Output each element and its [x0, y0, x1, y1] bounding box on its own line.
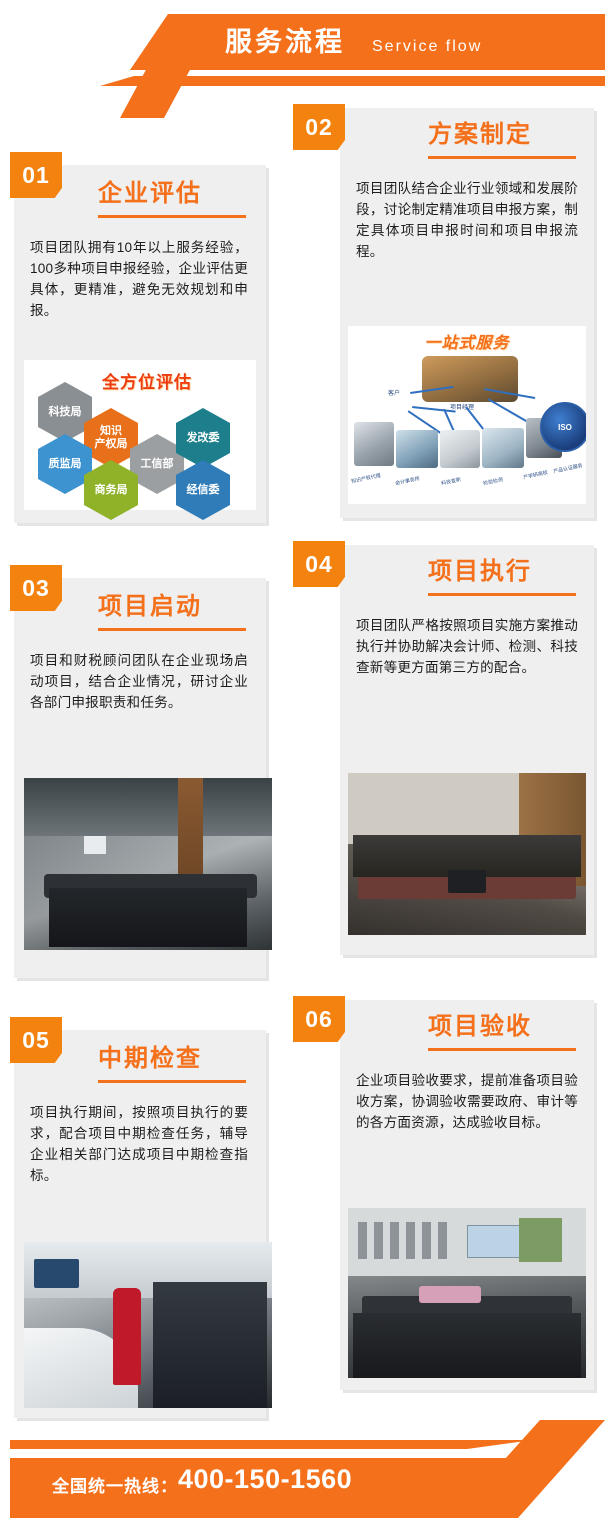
step-body-01: 项目团队拥有10年以上服务经验，100多种项目申报经验，企业评估更具体，更精准，…	[30, 237, 248, 321]
step-card-04: 项目执行 项目团队严格按照项目实施方案推动执行并协助解决会计师、检测、科技查新等…	[340, 545, 594, 955]
oss-label-0: 知识产权代理	[351, 472, 382, 485]
hex-label-3: 工信部	[139, 458, 176, 471]
photo-red-coat-05	[113, 1288, 140, 1384]
oss-node-inspection	[482, 428, 524, 468]
oss-label-3: 检验检测	[483, 476, 504, 487]
oss-label-customer: 客户	[388, 388, 400, 397]
photo-laptop-04	[448, 870, 486, 893]
step-photo-04	[348, 773, 586, 935]
photo-whiteboard-03	[84, 836, 106, 853]
step-body-06: 企业项目验收要求，提前准备项目验收方案，协调验收需要政府、审计等的各方面资源，达…	[356, 1070, 578, 1133]
step-photo-03	[24, 778, 272, 950]
hex-node-gongxin: 工信部	[130, 434, 184, 494]
step-body-05: 项目执行期间，按照项目执行的要求，配合项目中期检查任务，辅导企业相关部门达成项目…	[30, 1102, 248, 1186]
step-title-rule-04	[428, 593, 576, 596]
photo-flowers-06	[419, 1286, 481, 1303]
step-title-01: 企业评估	[98, 179, 202, 209]
hex-label-4: 商务局	[93, 484, 130, 497]
step-body-04: 项目团队严格按照项目实施方案推动执行并协助解决会计师、检测、科技查新等更方面第三…	[356, 615, 578, 678]
page-footer: 全国统一热线： 400-150-1560	[0, 1420, 605, 1538]
photo-certificates-06	[358, 1222, 453, 1259]
oss-node-certification-seal: ISO	[540, 402, 586, 452]
oss-node-ip-agency	[354, 422, 394, 466]
step-number-badge-02: 02	[293, 104, 345, 150]
hex-diagram-title: 全方位评估	[102, 368, 192, 393]
photo-ceiling-03	[24, 778, 272, 836]
hex-node-shangwu: 商务局	[84, 460, 138, 520]
hex-label-1: 知识 产权局	[93, 425, 130, 451]
step-title-03: 项目启动	[98, 592, 202, 622]
oss-node-tech-search	[440, 430, 480, 468]
assessment-hex-diagram: 全方位评估 科技局 知识 产权局 质监局 工信部 商务局 发改委 经信委	[24, 360, 256, 510]
oss-node-accounting	[396, 430, 438, 468]
step-card-06: 项目验收 企业项目验收要求，提前准备项目验收方案，协调验收需要政府、审计等的各方…	[340, 1000, 594, 1390]
step-card-02: 方案制定 项目团队结合企业行业领域和发展阶段，讨论制定精准项目申报方案，制定具体…	[340, 108, 594, 518]
step-photo-06	[348, 1208, 586, 1378]
hotline-label: 全国统一热线：	[52, 1472, 178, 1497]
hex-label-6: 经信委	[185, 484, 222, 497]
hex-node-jingxin: 经信委	[176, 460, 230, 520]
step-title-06: 项目验收	[428, 1012, 532, 1042]
oss-label-5: 产品认证服务	[553, 462, 584, 475]
oss-label-1: 会计事务所	[395, 475, 421, 487]
photo-screen-05	[34, 1259, 79, 1289]
page-header: 服务流程 Service flow	[0, 0, 605, 100]
page-subtitle: Service flow	[372, 32, 482, 62]
photo-chairs-03	[49, 888, 247, 946]
photo-chairs-06	[353, 1313, 581, 1378]
page-title: 服务流程	[225, 22, 345, 62]
step-title-rule-05	[98, 1080, 246, 1083]
step-card-05: 中期检查 项目执行期间，按照项目执行的要求，配合项目中期检查任务，辅导企业相关部…	[14, 1030, 266, 1418]
header-stripe	[100, 76, 605, 86]
hex-node-zhijian: 质监局	[38, 434, 92, 494]
step-body-02: 项目团队结合企业行业领域和发展阶段，讨论制定精准项目申报方案，制定具体项目申报时…	[356, 178, 578, 262]
step-title-04: 项目执行	[428, 557, 532, 587]
one-stop-service-title: 一站式服务	[348, 329, 586, 353]
photo-board-06	[519, 1218, 562, 1262]
step-card-03: 项目启动 项目和财税顾问团队在企业现场启动项目，结合企业情况，研讨企业各部门申报…	[14, 578, 266, 978]
photo-projection-06	[467, 1225, 521, 1258]
photo-wood-panel-03	[178, 778, 203, 885]
step-photo-05	[24, 1242, 272, 1408]
oss-label-4: 产学研高校	[523, 469, 549, 481]
hotline-number[interactable]: 400-150-1560	[178, 1464, 352, 1495]
hex-label-5: 发改委	[185, 432, 222, 445]
header-band	[130, 14, 605, 70]
one-stop-service-graphic: 一站式服务 客户 项目经理 ISO 知识产权代理 会计事务所 科技查新 检验检测…	[348, 326, 586, 504]
step-card-01: 企业评估 项目团队拥有10年以上服务经验，100多种项目申报经验，企业评估更具体…	[14, 165, 266, 523]
photo-group-05	[153, 1282, 267, 1408]
step-number-badge-05: 05	[10, 1017, 62, 1063]
step-title-rule-01	[98, 215, 246, 218]
hex-label-2: 质监局	[47, 458, 84, 471]
oss-label-2: 科技查新	[441, 476, 462, 487]
step-number-badge-06: 06	[293, 996, 345, 1042]
hex-node-fagai: 发改委	[176, 408, 230, 468]
hex-label-0: 科技局	[47, 406, 84, 419]
step-title-rule-02	[428, 156, 576, 159]
step-title-rule-03	[98, 628, 246, 631]
step-body-03: 项目和财税顾问团队在企业现场启动项目，结合企业情况，研讨企业各部门申报职责和任务…	[30, 650, 248, 713]
infographic-page: 服务流程 Service flow 企业评估 项目团队拥有10年以上服务经验，1…	[0, 0, 605, 1538]
step-title-05: 中期检查	[98, 1044, 202, 1074]
step-number-badge-03: 03	[10, 565, 62, 611]
hex-node-keji: 科技局	[38, 382, 92, 442]
step-number-badge-01: 01	[10, 152, 62, 198]
step-title-rule-06	[428, 1048, 576, 1051]
step-title-02: 方案制定	[428, 120, 532, 150]
hex-node-zscq: 知识 产权局	[84, 408, 138, 468]
step-number-badge-04: 04	[293, 541, 345, 587]
oss-hub-photo	[422, 356, 518, 402]
